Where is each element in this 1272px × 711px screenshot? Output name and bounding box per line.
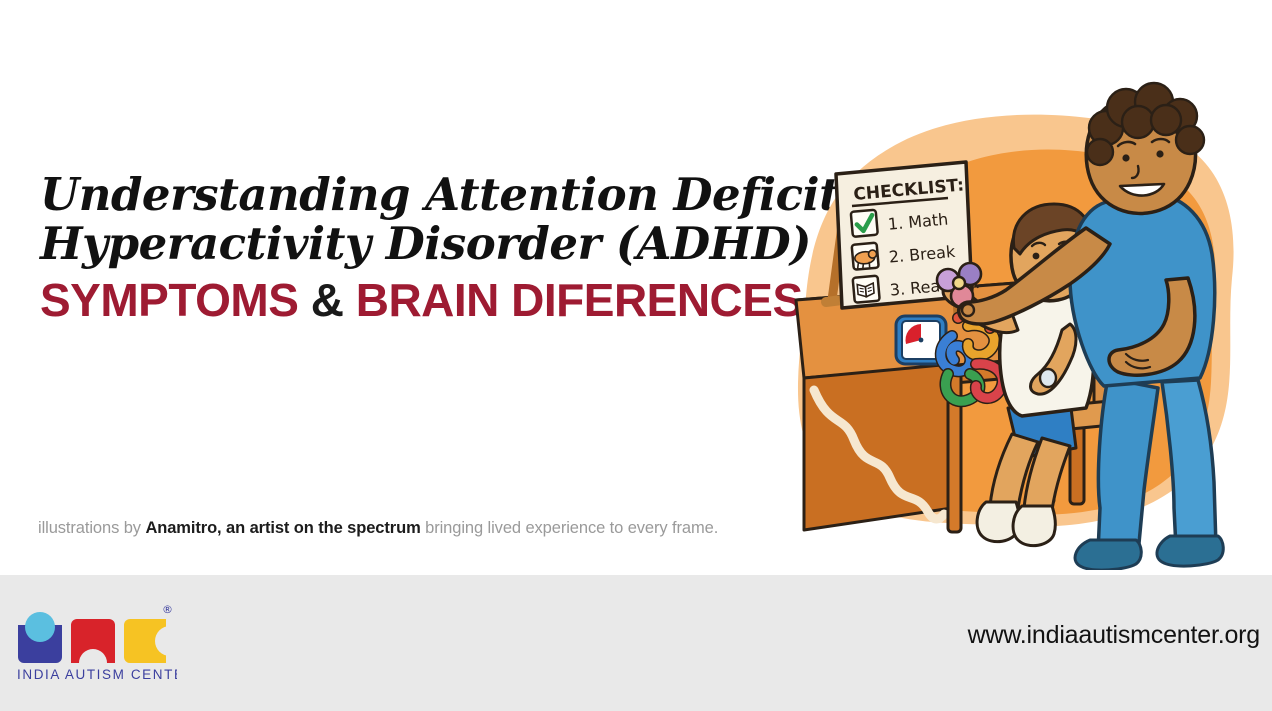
artist-attribution: illustrations by Anamitro, an artist on … [38,519,718,538]
attribution-prefix: illustrations by [38,519,145,537]
page-title: Understanding Attention Deficit Hyperact… [40,170,800,326]
logo-lightblue-circle [25,612,55,642]
website-url[interactable]: www.indiaautismcenter.org [968,621,1260,650]
title-accent-ampersand: & [311,274,344,326]
footer-bar: ® INDIA AUTISM CENTER www.indiaautismcen… [0,575,1272,711]
title-accent-line: SYMPTOMS & BRAIN DIFERENCES [40,274,800,326]
attribution-suffix: bringing lived experience to every frame… [421,519,719,537]
logo-wordmark: INDIA AUTISM CENTER [17,667,177,682]
logo-registered-mark: ® [162,603,173,616]
logo-svg: ® INDIA AUTISM CENTER [12,599,177,685]
india-autism-center-logo[interactable]: ® INDIA AUTISM CENTER [12,599,177,685]
title-line-2: Hyperactivity Disorder (ADHD): [40,219,800,268]
title-accent-symptoms: SYMPTOMS [40,274,298,326]
slide-root: Understanding Attention Deficit Hyperact… [0,0,1272,711]
main-content-area: Understanding Attention Deficit Hyperact… [0,0,1272,575]
title-accent-brain-diferences: BRAIN DIFERENCES [356,274,803,326]
title-line-1: Understanding Attention Deficit [40,170,800,219]
illustration-svg: CHECKLIST: 1. Math [770,78,1270,570]
adhd-classroom-illustration: CHECKLIST: 1. Math [770,78,1270,570]
attribution-artist-name: Anamitro, an artist on the spectrum [145,519,420,537]
